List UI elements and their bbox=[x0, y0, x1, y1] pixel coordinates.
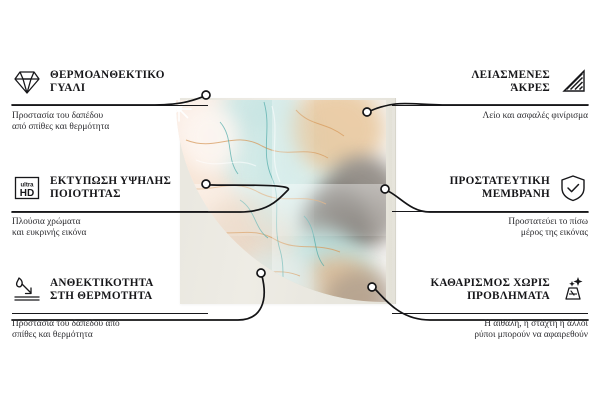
feature-description: Λείο και ασφαλές φινίρισμα bbox=[392, 111, 588, 122]
feature-title: ΛΕΙΑΣΜΕΝΕΣ ΆΚΡΕΣ bbox=[471, 69, 550, 95]
feature-title: ΕΚΤΥΠΩΣΗ ΥΨΗΛΗΣ ΠΟΙΟΤΗΤΑΣ bbox=[50, 175, 171, 201]
feature-title: ΠΡΟΣΤΑΤΕΥΤΙΚΗ ΜΕΜΒΡΑΝΗ bbox=[450, 175, 550, 201]
feature-easy-cleaning[interactable]: ΚΑΘΑΡΙΣΜΟΣ ΧΩΡΙΣ ΠΡΟΒΛΗΜΑΤΑ Η αιθάλη, η … bbox=[392, 270, 588, 342]
feature-desc-line1: Πλούσια χρώματα bbox=[12, 217, 208, 228]
feature-title-line1: ΚΑΘΑΡΙΣΜΟΣ ΧΩΡΙΣ bbox=[430, 277, 550, 290]
ultra-hd-icon: ultra HD bbox=[12, 173, 42, 203]
feature-header: ΘΕΡΜΟΑΝΘΕΚΤΙΚΟ ΓΥΑΛΙ bbox=[12, 62, 208, 102]
hd-label: HD bbox=[20, 188, 34, 199]
feature-title-line2: ΠΡΟΒΛΗΜΑΤΑ bbox=[430, 290, 550, 303]
feature-desc-line2: ρύποι μπορούν να αφαιρεθούν bbox=[392, 330, 588, 341]
feature-divider bbox=[12, 105, 208, 106]
feature-header: ΑΝΘΕΚΤΙΚΟΤΗΤΑ ΣΤΗ ΘΕΡΜΟΤΗΤΑ bbox=[12, 270, 208, 310]
shield-check-icon bbox=[558, 173, 588, 203]
feature-high-quality-print[interactable]: ultra HD ΕΚΤΥΠΩΣΗ ΥΨΗΛΗΣ ΠΟΙΟΤΗΤΑΣ Πλούσ… bbox=[12, 168, 208, 240]
feature-heat-durability[interactable]: ΑΝΘΕΚΤΙΚΟΤΗΤΑ ΣΤΗ ΘΕΡΜΟΤΗΤΑ Προστασία το… bbox=[12, 270, 208, 342]
feature-desc-line1: Προστασία του δαπέδου bbox=[12, 111, 208, 122]
feature-desc-line1: Λείο και ασφαλές φινίρισμα bbox=[392, 111, 588, 122]
feature-title-line1: ΛΕΙΑΣΜΕΝΕΣ bbox=[471, 69, 550, 82]
diamond-icon bbox=[12, 67, 42, 97]
feature-title: ΑΝΘΕΚΤΙΚΟΤΗΤΑ ΣΤΗ ΘΕΡΜΟΤΗΤΑ bbox=[50, 277, 154, 303]
feature-desc-line2: μέρος της εικόνας bbox=[392, 228, 588, 239]
feature-title-line2: ΜΕΜΒΡΑΝΗ bbox=[450, 188, 550, 201]
infographic-canvas: ΘΕΡΜΟΑΝΘΕΚΤΙΚΟ ΓΥΑΛΙ Προστασία του δαπέδ… bbox=[0, 0, 600, 400]
feature-title-line1: ΕΚΤΥΠΩΣΗ ΥΨΗΛΗΣ bbox=[50, 175, 171, 188]
feature-title-line2: ΠΟΙΟΤΗΤΑΣ bbox=[50, 188, 171, 201]
feature-title-line2: ΣΤΗ ΘΕΡΜΟΤΗΤΑ bbox=[50, 290, 154, 303]
feature-desc-line1: Προστατεύει το πίσω bbox=[392, 217, 588, 228]
heat-resistance-icon bbox=[12, 275, 42, 305]
feature-divider bbox=[392, 313, 588, 314]
feature-desc-line1: Προστασία του δαπέδου από bbox=[12, 319, 208, 330]
feature-divider bbox=[392, 105, 588, 106]
feature-divider bbox=[12, 313, 208, 314]
feature-desc-line2: από σπίθες και θερμότητα bbox=[12, 122, 208, 133]
feature-divider bbox=[392, 211, 588, 212]
feature-heat-resistant-glass[interactable]: ΘΕΡΜΟΑΝΘΕΚΤΙΚΟ ΓΥΑΛΙ Προστασία του δαπέδ… bbox=[12, 62, 208, 134]
feature-title: ΘΕΡΜΟΑΝΘΕΚΤΙΚΟ ΓΥΑΛΙ bbox=[50, 69, 165, 95]
feature-protective-membrane[interactable]: ΠΡΟΣΤΑΤΕΥΤΙΚΗ ΜΕΜΒΡΑΝΗ Προστατεύει το πί… bbox=[392, 168, 588, 240]
feature-divider bbox=[12, 211, 208, 212]
feature-header: ΛΕΙΑΣΜΕΝΕΣ ΆΚΡΕΣ bbox=[392, 62, 588, 102]
feature-description: Προστατεύει το πίσω μέρος της εικόνας bbox=[392, 217, 588, 240]
spray-clean-icon bbox=[558, 275, 588, 305]
feature-title-line1: ΠΡΟΣΤΑΤΕΥΤΙΚΗ bbox=[450, 175, 550, 188]
feature-desc-line1: Η αιθάλη, η στάχτη ή άλλοι bbox=[392, 319, 588, 330]
feature-desc-line2: σπίθες και θερμότητα bbox=[12, 330, 208, 341]
feature-header: ultra HD ΕΚΤΥΠΩΣΗ ΥΨΗΛΗΣ ΠΟΙΟΤΗΤΑΣ bbox=[12, 168, 208, 208]
feature-header: ΠΡΟΣΤΑΤΕΥΤΙΚΗ ΜΕΜΒΡΑΝΗ bbox=[392, 168, 588, 208]
feature-polished-edges[interactable]: ΛΕΙΑΣΜΕΝΕΣ ΆΚΡΕΣ Λείο και ασφαλές φινίρι… bbox=[392, 62, 588, 122]
feature-desc-line2: και ευκρινής εικόνα bbox=[12, 228, 208, 239]
feature-title: ΚΑΘΑΡΙΣΜΟΣ ΧΩΡΙΣ ΠΡΟΒΛΗΜΑΤΑ bbox=[430, 277, 550, 303]
feature-description: Πλούσια χρώματα και ευκρινής εικόνα bbox=[12, 217, 208, 240]
feature-title-line2: ΆΚΡΕΣ bbox=[471, 82, 550, 95]
polished-edge-icon bbox=[558, 67, 588, 97]
feature-title-line1: ΘΕΡΜΟΑΝΘΕΚΤΙΚΟ bbox=[50, 69, 165, 82]
feature-description: Προστασία του δαπέδου από σπίθες και θερ… bbox=[12, 319, 208, 342]
feature-description: Προστασία του δαπέδου από σπίθες και θερ… bbox=[12, 111, 208, 134]
feature-description: Η αιθάλη, η στάχτη ή άλλοι ρύποι μπορούν… bbox=[392, 319, 588, 342]
feature-title-line1: ΑΝΘΕΚΤΙΚΟΤΗΤΑ bbox=[50, 277, 154, 290]
feature-title-line2: ΓΥΑΛΙ bbox=[50, 82, 165, 95]
feature-header: ΚΑΘΑΡΙΣΜΟΣ ΧΩΡΙΣ ΠΡΟΒΛΗΜΑΤΑ bbox=[392, 270, 588, 310]
